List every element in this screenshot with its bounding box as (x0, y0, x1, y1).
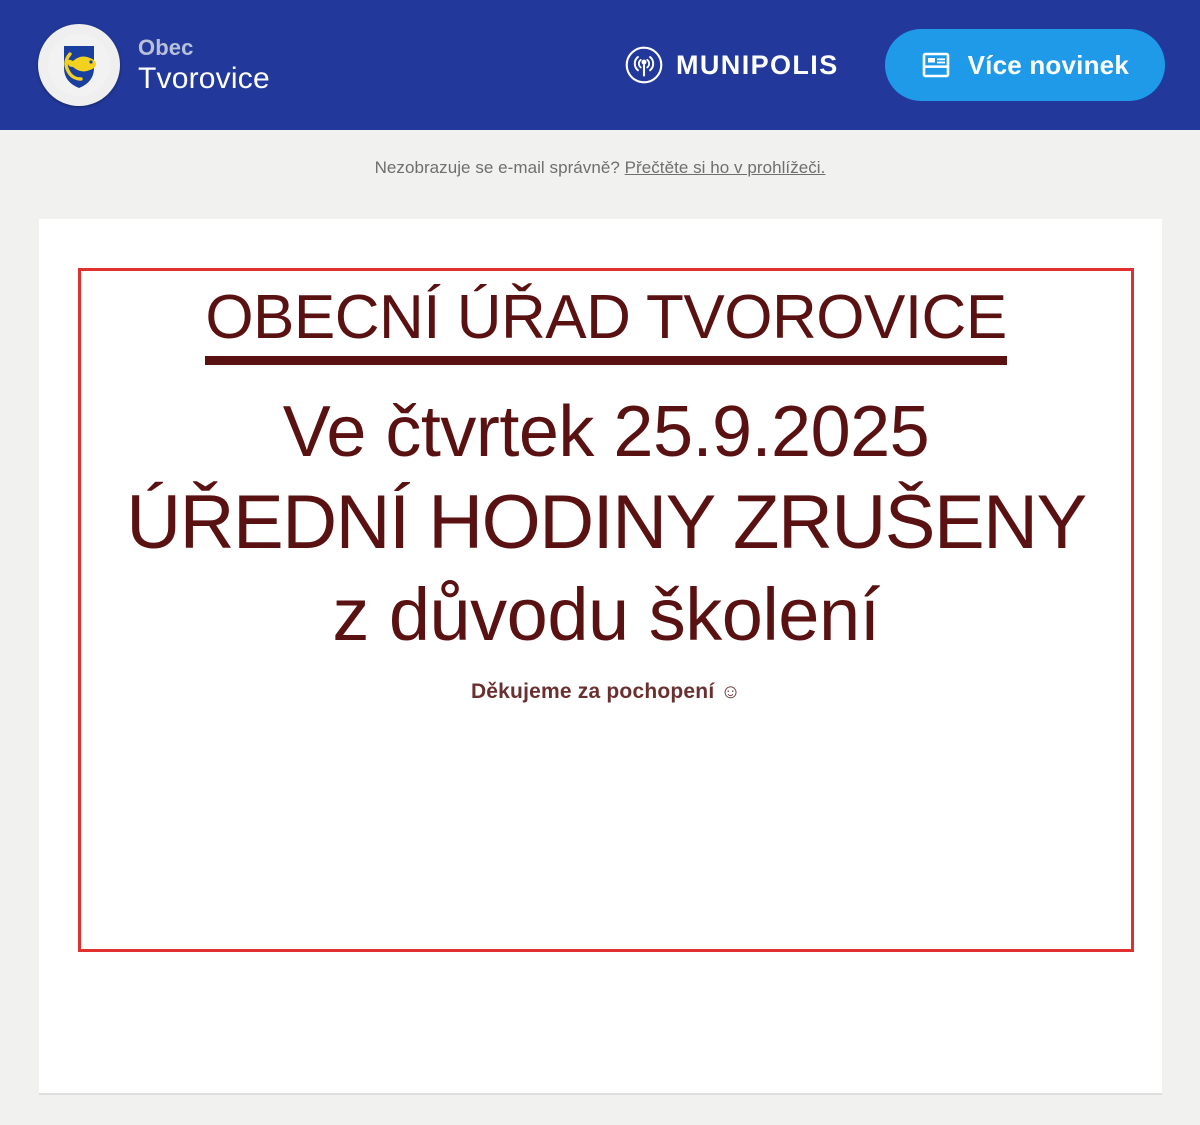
more-news-label: Více novinek (968, 50, 1129, 81)
poster-title-wrap: OBECNÍ ÚŘAD TVOROVICE (105, 285, 1107, 365)
poster-content: OBECNÍ ÚŘAD TVOROVICE Ve čtvrtek 25.9.20… (81, 271, 1131, 704)
poster-thanks-note: Děkujeme za pochopení ☺ (105, 680, 1107, 704)
broadcast-signal-icon (625, 46, 663, 84)
newspaper-icon (921, 50, 951, 80)
poster-line-date: Ve čtvrtek 25.9.2025 (105, 389, 1107, 477)
munipolis-logo[interactable]: MUNIPOLIS (625, 0, 839, 130)
email-content-card: OBECNÍ ÚŘAD TVOROVICE Ve čtvrtek 25.9.20… (39, 219, 1162, 1093)
brand-block[interactable]: Obec Tvorovice (38, 24, 270, 106)
brand-text: Obec Tvorovice (138, 37, 270, 94)
smiley-face-icon: ☺ (720, 681, 741, 703)
poster-thanks-text: Děkujeme za pochopení (471, 680, 714, 703)
municipality-name-label: Tvorovice (138, 64, 270, 94)
email-header-bar: Obec Tvorovice MUNIPOLIS Více novinek (0, 0, 1200, 130)
footer-divider (39, 1093, 1162, 1095)
municipal-coat-of-arms-fish-shield-icon (38, 24, 120, 106)
poster-line-cancelled: ÚŘEDNÍ HODINY ZRUŠENY (105, 477, 1107, 570)
view-in-browser-link[interactable]: Přečtěte si ho v prohlížeči. (625, 158, 826, 177)
munipolis-wordmark: MUNIPOLIS (676, 50, 839, 81)
preheader-question: Nezobrazuje se e-mail správně? (375, 158, 620, 177)
preheader: Nezobrazuje se e-mail správně? Přečtěte … (0, 130, 1200, 178)
poster-title: OBECNÍ ÚŘAD TVOROVICE (205, 285, 1006, 365)
poster-line-reason: z důvodu školení (105, 570, 1107, 660)
brand-prefix-label: Obec (138, 37, 270, 59)
more-news-button[interactable]: Více novinek (885, 29, 1165, 101)
announcement-poster-image[interactable]: OBECNÍ ÚŘAD TVOROVICE Ve čtvrtek 25.9.20… (78, 268, 1134, 952)
